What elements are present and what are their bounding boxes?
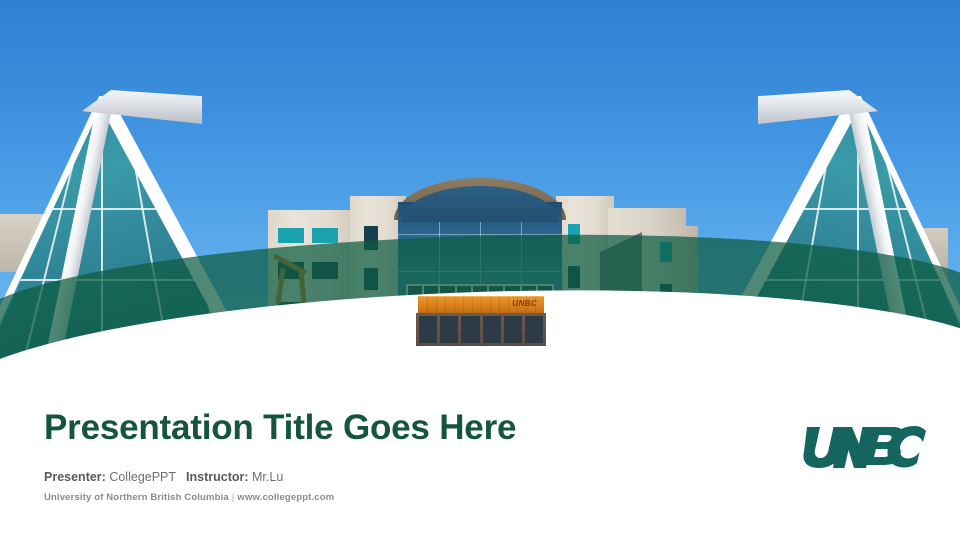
- building-window: [568, 224, 580, 244]
- building-window: [312, 228, 338, 243]
- hero-photo: UNBC: [0, 0, 960, 372]
- footer-info: University of Northern British Columbia|…: [44, 492, 334, 503]
- unbc-logo-mark: [800, 420, 930, 470]
- building-window: [312, 262, 338, 279]
- building-orange-awning: UNBC: [418, 296, 544, 313]
- page-title: Presentation Title Goes Here: [44, 408, 516, 448]
- unbc-logo: [800, 420, 930, 470]
- building-window: [568, 266, 580, 288]
- footer-website[interactable]: www.collegeppt.com: [237, 492, 334, 503]
- building-window: [364, 226, 378, 250]
- building-entrance-doors: [416, 313, 546, 346]
- presentation-slide: UNBC: [0, 0, 960, 540]
- awning-label: UNBC: [512, 300, 537, 308]
- building-window: [364, 268, 378, 290]
- presenter-value: CollegePPT: [109, 470, 176, 484]
- instructor-value: Mr.Lu: [252, 470, 283, 484]
- presenter-info: Presenter: CollegePPTInstructor: Mr.Lu: [44, 470, 283, 484]
- footer-organization: University of Northern British Columbia: [44, 492, 229, 503]
- presenter-label: Presenter:: [44, 470, 106, 484]
- slide-text-area: Presentation Title Goes Here Presenter: …: [0, 372, 960, 540]
- instructor-label: Instructor:: [186, 470, 249, 484]
